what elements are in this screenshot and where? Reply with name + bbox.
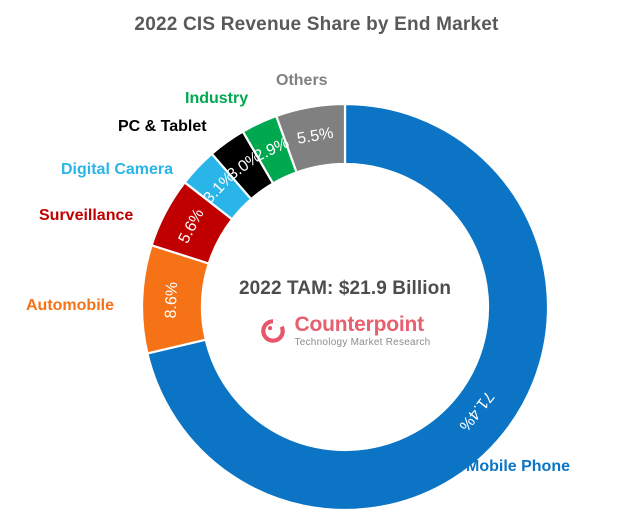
- category-label-mobile-phone: Mobile Phone: [466, 458, 570, 476]
- category-label-surveillance: Surveillance: [39, 207, 133, 225]
- donut-center-block: 2022 TAM: $21.9 Billion Counterpoint Tec…: [175, 278, 515, 348]
- logo-brand-name: Counterpoint: [294, 314, 423, 335]
- center-tam-text: 2022 TAM: $21.9 Billion: [175, 278, 515, 300]
- counterpoint-logo-icon: [259, 317, 287, 345]
- category-label-pc-tablet: PC & Tablet: [118, 118, 207, 136]
- category-label-automobile: Automobile: [26, 297, 114, 315]
- counterpoint-logo-text: Counterpoint Technology Market Research: [294, 314, 430, 348]
- logo-tagline: Technology Market Research: [294, 338, 430, 348]
- counterpoint-logo: Counterpoint Technology Market Research: [175, 314, 515, 348]
- category-label-others: Others: [276, 72, 328, 90]
- category-label-industry: Industry: [185, 90, 248, 108]
- category-label-digital-camera: Digital Camera: [61, 161, 173, 179]
